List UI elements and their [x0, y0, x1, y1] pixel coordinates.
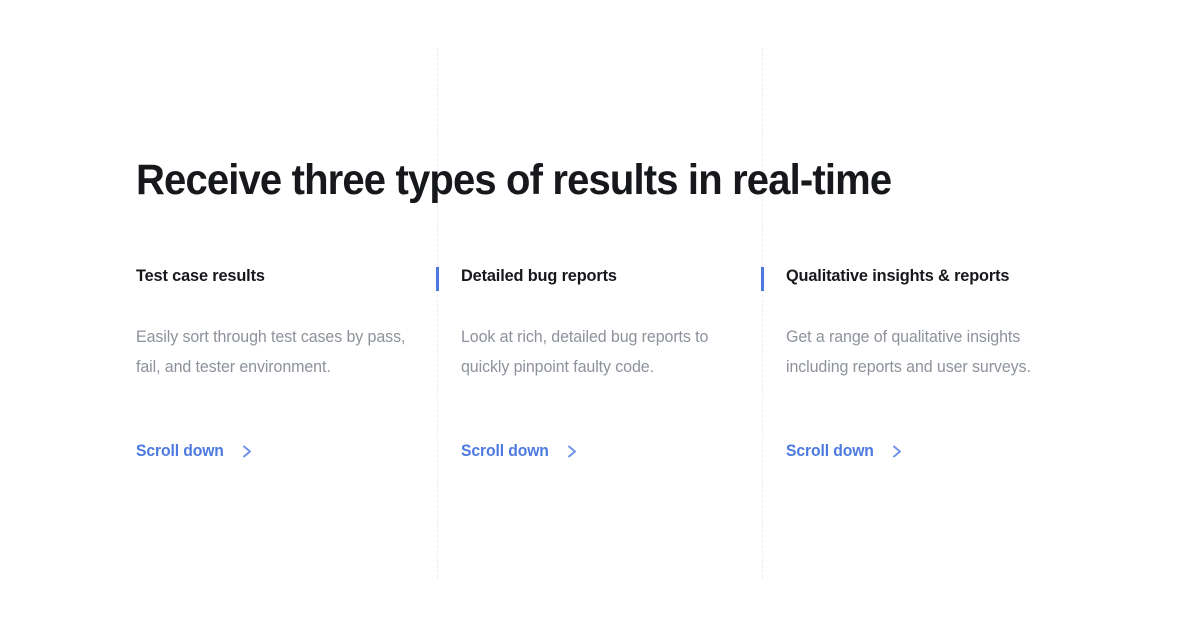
- feature-column-detailed-bug-reports: Detailed bug reports Look at rich, detai…: [461, 264, 751, 462]
- scroll-down-link-1[interactable]: Scroll down: [136, 440, 253, 462]
- feature-column-body: Get a range of qualitative insights incl…: [786, 322, 1077, 382]
- column-divider-2: [762, 48, 763, 578]
- scroll-down-label: Scroll down: [786, 440, 874, 462]
- accent-tick-column-2: [436, 267, 439, 291]
- feature-column-qualitative-insights: Qualitative insights & reports Get a ran…: [786, 264, 1086, 462]
- chevron-right-icon: [892, 445, 903, 458]
- scroll-down-label: Scroll down: [461, 440, 549, 462]
- accent-tick-column-3: [761, 267, 764, 291]
- feature-column-test-case-results: Test case results Easily sort through te…: [136, 264, 426, 462]
- feature-column-body: Look at rich, detailed bug reports to qu…: [461, 322, 742, 382]
- feature-columns-section: Receive three types of results in real-t…: [0, 0, 1200, 631]
- feature-column-title: Qualitative insights & reports: [786, 264, 1074, 288]
- scroll-down-link-2[interactable]: Scroll down: [461, 440, 578, 462]
- scroll-down-label: Scroll down: [136, 440, 224, 462]
- chevron-right-icon: [242, 445, 253, 458]
- page-title: Receive three types of results in real-t…: [136, 152, 1029, 208]
- feature-column-title: Detailed bug reports: [461, 264, 739, 288]
- feature-column-title: Test case results: [136, 264, 414, 288]
- column-divider-1: [437, 48, 438, 578]
- scroll-down-link-3[interactable]: Scroll down: [786, 440, 903, 462]
- feature-column-body: Easily sort through test cases by pass, …: [136, 322, 417, 382]
- chevron-right-icon: [567, 445, 578, 458]
